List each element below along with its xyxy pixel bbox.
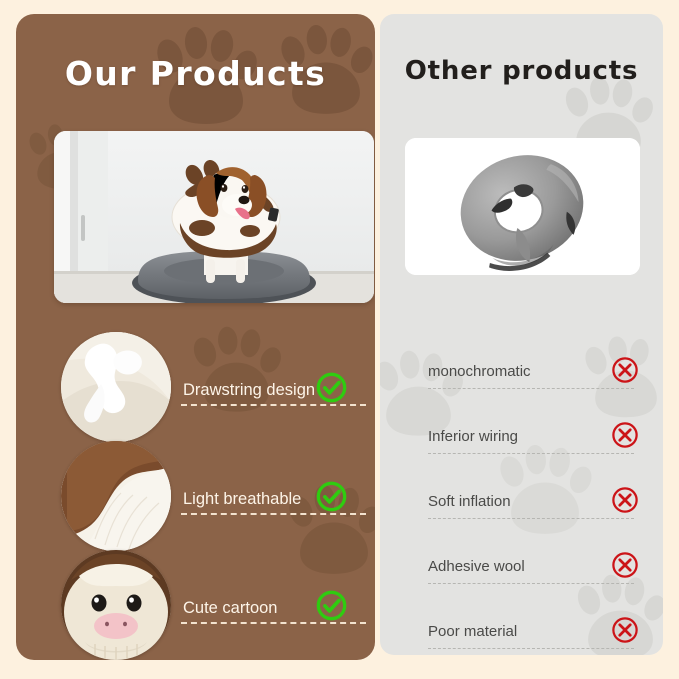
feature-body: Cute cartoon xyxy=(181,572,366,634)
drawback-label: monochromatic xyxy=(428,363,531,380)
drawback-label: Poor material xyxy=(428,623,517,640)
our-products-title: Our Products xyxy=(16,54,375,93)
drawback-divider xyxy=(428,648,634,649)
drawback-row: monochromatic xyxy=(428,359,618,389)
drawback-divider xyxy=(428,518,634,519)
other-products-title: Other products xyxy=(380,56,663,86)
drawback-divider xyxy=(428,388,634,389)
red-cross-icon xyxy=(610,420,640,450)
red-cross-icon xyxy=(610,550,640,580)
our-products-panel: Our Products xyxy=(16,14,375,660)
drawback-row: Poor material xyxy=(428,619,618,649)
red-cross-icon xyxy=(610,615,640,645)
drawback-divider xyxy=(428,583,634,584)
feature-row: Light breathable xyxy=(61,441,366,546)
infographic-root: Our Products xyxy=(0,0,679,679)
other-products-panel: Other products xyxy=(380,14,663,655)
feature-body: Light breathable xyxy=(181,463,366,525)
feature-divider xyxy=(181,404,366,406)
drawback-label: Adhesive wool xyxy=(428,558,525,575)
drawback-row: Inferior wiring xyxy=(428,424,618,454)
red-cross-icon xyxy=(610,485,640,515)
green-check-icon xyxy=(315,371,348,404)
other-product-photo xyxy=(405,138,640,275)
drawback-label: Soft inflation xyxy=(428,493,511,510)
feature-label: Cute cartoon xyxy=(183,599,277,618)
feature-divider xyxy=(181,513,366,515)
red-cross-icon xyxy=(610,355,640,385)
feature-thumbnail-drawstring xyxy=(61,332,171,442)
feature-label: Light breathable xyxy=(183,490,301,509)
drawback-label: Inferior wiring xyxy=(428,428,518,445)
drawback-divider xyxy=(428,453,634,454)
feature-label: Drawstring design xyxy=(183,381,315,400)
feature-divider xyxy=(181,622,366,624)
green-check-icon xyxy=(315,589,348,622)
green-check-icon xyxy=(315,480,348,513)
feature-row: Cute cartoon xyxy=(61,550,366,655)
hero-product-photo xyxy=(54,131,374,303)
feature-row: Drawstring design xyxy=(61,332,366,437)
feature-thumbnail-cartoon xyxy=(61,550,171,660)
drawback-row: Adhesive wool xyxy=(428,554,618,584)
feature-body: Drawstring design xyxy=(181,354,366,416)
drawback-row: Soft inflation xyxy=(428,489,618,519)
feature-thumbnail-breathable xyxy=(61,441,171,551)
